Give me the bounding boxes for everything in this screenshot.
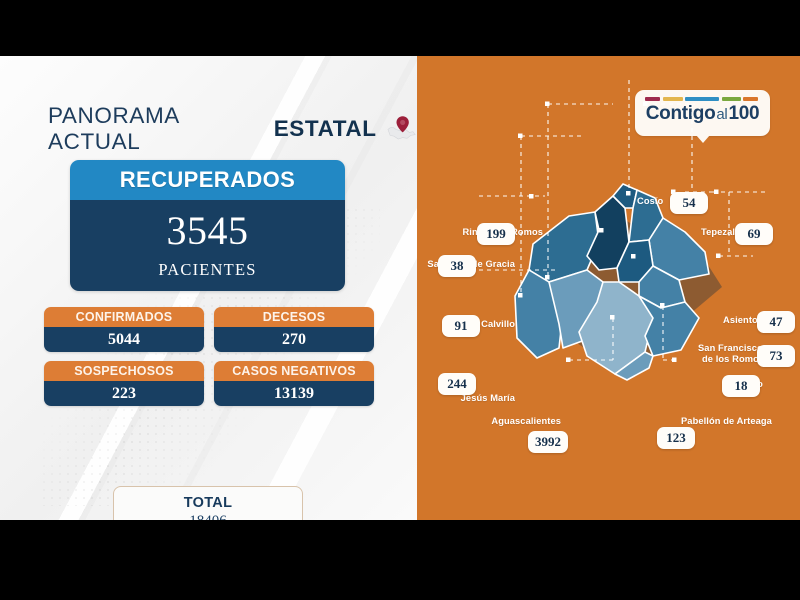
map-value-asientos: 47 [757,311,795,333]
recovered-card-label: RECUPERADOS [70,160,345,200]
content-band: PANORAMA ACTUAL ESTATAL RECUPERADOS 3545… [0,56,800,520]
map-label-cosio: Cosío [637,196,663,207]
stat-value: 5044 [44,327,204,352]
map-label-san-francisco-de-los-romo: San Francisco de los Romo [698,343,763,365]
recovered-unit: PACIENTES [158,260,256,280]
stats-grid: CONFIRMADOS 5044 DECESOS 270 SOSPECHOSOS… [44,307,374,406]
total-value: 18406 [189,513,227,521]
map-value-cosio: 54 [670,192,708,214]
page-title-light: PANORAMA ACTUAL [48,103,266,155]
map-label-pabellon-de-arteaga: Pabellón de Arteaga [681,416,772,427]
recovered-card: RECUPERADOS 3545 PACIENTES [70,160,345,291]
map-svg [417,56,800,520]
aguascalientes-map: Cosío Tepezalá Rincón de Romos San José … [417,56,800,520]
stat-card-sospechosos: SOSPECHOSOS 223 [44,361,204,406]
stat-value: 270 [214,327,374,352]
map-value-san-jose-de-gracia: 38 [438,255,476,277]
map-label-aguascalientes: Aguascalientes [473,416,561,427]
stat-card-decesos: DECESOS 270 [214,307,374,352]
total-box: TOTAL 18406 [113,486,303,520]
stat-label: CONFIRMADOS [44,307,204,327]
total-label: TOTAL [184,495,232,511]
map-pin-mexico-icon [385,111,417,145]
recovered-value: 3545 [167,211,249,251]
page-title: PANORAMA ACTUAL ESTATAL [48,103,417,155]
stat-label: SOSPECHOSOS [44,361,204,381]
map-value-san-francisco-de-los-romo: 73 [757,345,795,367]
stat-label: CASOS NEGATIVOS [214,361,374,381]
map-value-jesus-maria: 244 [438,373,476,395]
map-value-rincon-de-romos: 199 [477,223,515,245]
page-title-bold: ESTATAL [274,116,377,142]
stat-card-confirmados: CONFIRMADOS 5044 [44,307,204,352]
left-panel: PANORAMA ACTUAL ESTATAL RECUPERADOS 3545… [0,56,417,520]
screenshot-stage: PANORAMA ACTUAL ESTATAL RECUPERADOS 3545… [0,0,800,600]
recovered-card-body: 3545 PACIENTES [70,200,345,291]
map-value-tepezala: 69 [735,223,773,245]
stat-label: DECESOS [214,307,374,327]
map-value-el-llano: 18 [722,375,760,397]
stat-value: 223 [44,381,204,406]
stat-value: 13139 [214,381,374,406]
map-value-pabellon-de-arteaga: 123 [657,427,695,449]
right-panel: Contigo al 100 [417,56,800,520]
stat-card-casos-negativos: CASOS NEGATIVOS 13139 [214,361,374,406]
map-value-calvillo: 91 [442,315,480,337]
map-value-aguascalientes: 3992 [528,431,568,453]
